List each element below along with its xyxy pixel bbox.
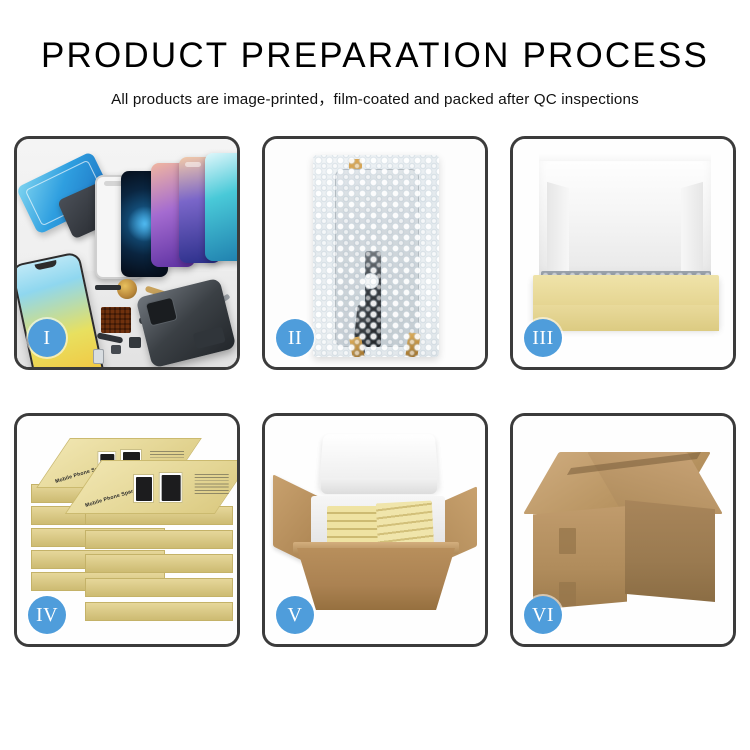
step-badge-3: III [524, 319, 562, 357]
product-preparation-infographic: PRODUCT PREPARATION PROCESS All products… [0, 0, 750, 750]
bubble-wrap-bag [313, 155, 439, 357]
carton-right-face [625, 500, 715, 602]
earpiece-mesh-part [95, 285, 121, 290]
screen-fan-group [95, 153, 237, 283]
header: PRODUCT PREPARATION PROCESS All products… [0, 0, 750, 109]
step-panel-5: V [262, 413, 488, 647]
carton-front-face [297, 548, 455, 610]
step-panel-6: VI [510, 413, 736, 647]
vibrator-part [111, 345, 121, 354]
step-badge-4: IV [28, 596, 66, 634]
carton-tape-upper [559, 528, 576, 554]
box-spec-lines-front [195, 472, 229, 494]
bubble-texture-back [313, 155, 439, 357]
box-white-lid [539, 161, 711, 279]
step-badge-2: II [276, 319, 314, 357]
box-kraft-front [533, 305, 719, 331]
step-badge-5: V [276, 596, 314, 634]
page-subtitle: All products are image-printed，film-coat… [0, 87, 750, 109]
page-title: PRODUCT PREPARATION PROCESS [0, 38, 750, 75]
step-panel-1: I [14, 136, 240, 370]
phone-screen-teal [205, 153, 237, 261]
carton-left-face [533, 506, 627, 610]
box-window-front-1 [133, 474, 154, 503]
step-panel-4: Mobile Phone Spare Parts [14, 413, 240, 647]
box-window-front-2 [159, 472, 183, 503]
process-step-grid: I II [14, 136, 736, 681]
step-panel-3: III [510, 136, 736, 370]
flex-cable-small [97, 332, 124, 343]
step-badge-6: VI [524, 596, 562, 634]
step-panel-2: II [262, 136, 488, 370]
sim-tray-part [93, 349, 104, 364]
chip-array-part [101, 307, 131, 333]
camera-module-part [129, 337, 141, 348]
carton-tape-lower [559, 582, 576, 606]
step-badge-1: I [28, 319, 66, 357]
foam-cooler-lid-face [321, 478, 437, 494]
